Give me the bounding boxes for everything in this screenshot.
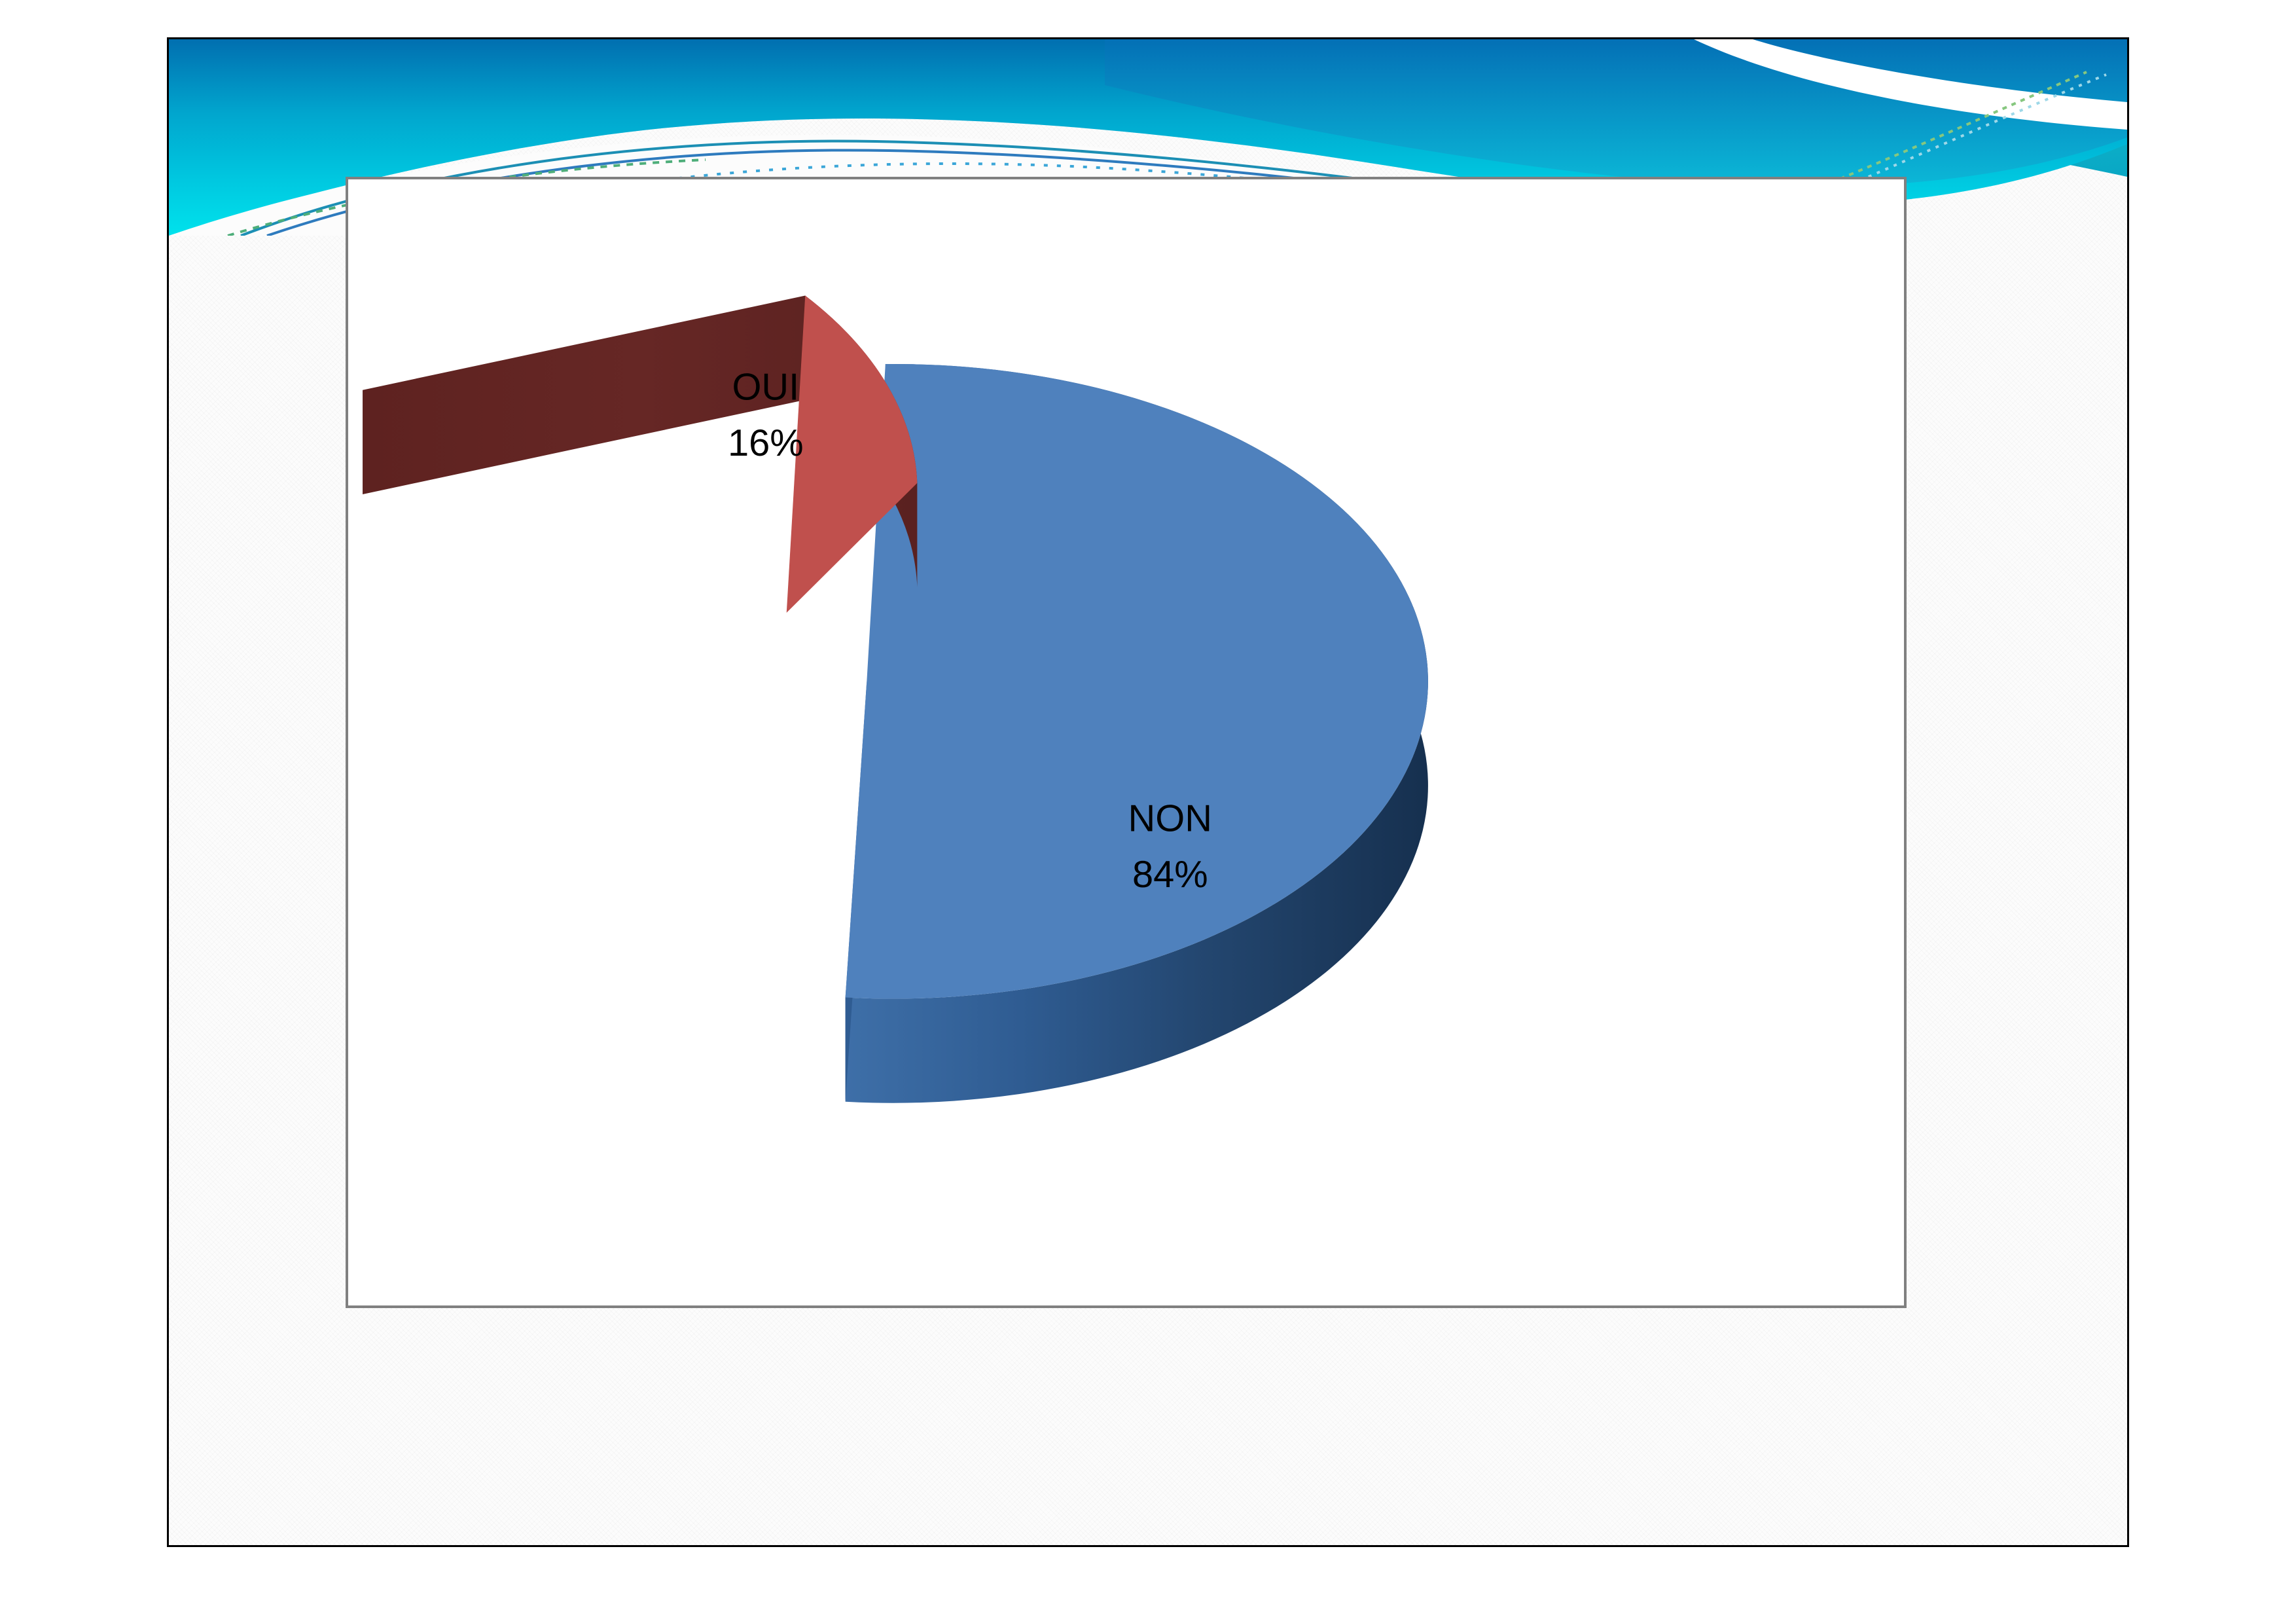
- pie-label-oui-name: OUI: [732, 366, 799, 408]
- chart-frame: NON 84% OUI 16%: [346, 177, 1907, 1308]
- pie-chart: NON 84% OUI 16%: [348, 179, 1904, 1305]
- pie-label-oui-percent: 16%: [728, 422, 804, 464]
- banner-wave-deep: [1105, 39, 2127, 187]
- pie-slice-non[interactable]: NON 84%: [846, 364, 1428, 1103]
- pie-label-non-name: NON: [1128, 797, 1212, 839]
- presentation-slide: Prévention des NVPO: [167, 37, 2129, 1547]
- pie-3d-group: NON 84% OUI 16%: [363, 295, 1428, 1103]
- pie-slice-oui[interactable]: OUI 16%: [363, 295, 917, 612]
- pie-label-non-percent: 84%: [1132, 854, 1208, 896]
